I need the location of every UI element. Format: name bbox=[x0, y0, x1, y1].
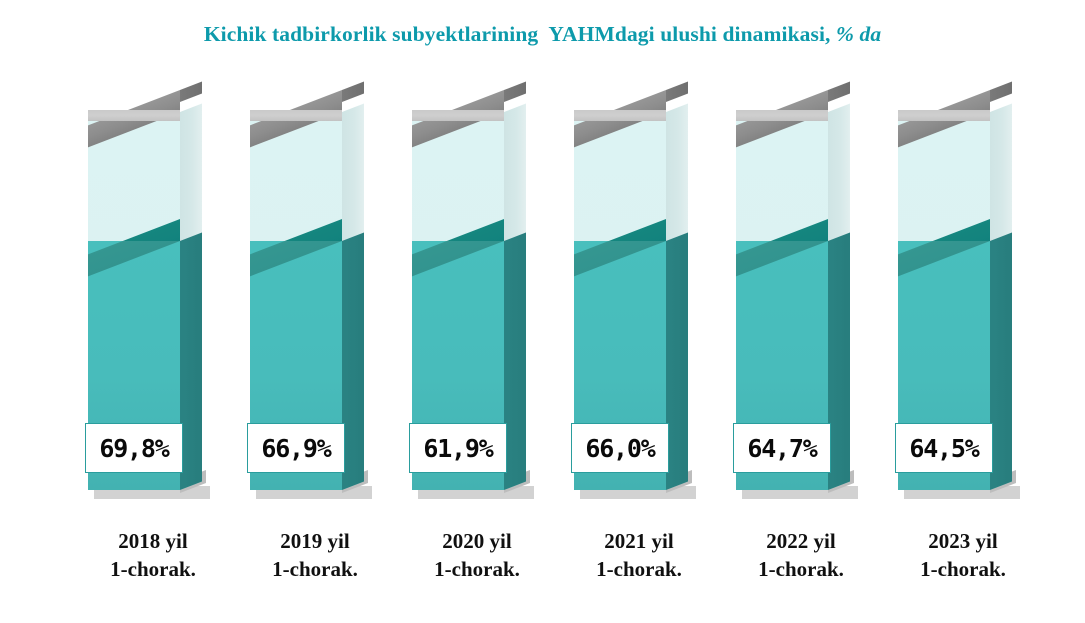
bar-category-label: 2020 yil 1-chorak. bbox=[398, 528, 556, 583]
bar-category-year: 2020 yil bbox=[442, 529, 511, 553]
bar-category-label: 2018 yil 1-chorak. bbox=[74, 528, 232, 583]
bar-lid-front-face bbox=[898, 110, 990, 121]
bar-value-label: 66,0% bbox=[585, 436, 654, 461]
bar-value-box: 66,9% bbox=[247, 423, 345, 473]
bar-value-label: 66,9% bbox=[261, 436, 330, 461]
bar-value-box: 61,9% bbox=[409, 423, 507, 473]
bar-category-quarter: 1-chorak. bbox=[560, 556, 718, 584]
bar-value-label: 69,8% bbox=[99, 436, 168, 461]
bar-category-label: 2023 yil 1-chorak. bbox=[884, 528, 1042, 583]
bar-category-quarter: 1-chorak. bbox=[398, 556, 556, 584]
bar-category-label: 2022 yil 1-chorak. bbox=[722, 528, 880, 583]
bar-category-quarter: 1-chorak. bbox=[236, 556, 394, 584]
bar-group-2020[interactable]: 61,9% 2020 yil 1-chorak. bbox=[412, 88, 542, 508]
bar-fill-side-face bbox=[504, 233, 526, 490]
bar-lid-side-face bbox=[180, 82, 202, 102]
bar-category-label: 2019 yil 1-chorak. bbox=[236, 528, 394, 583]
bar-lid-side-face bbox=[990, 82, 1012, 102]
bar-value-box: 64,5% bbox=[895, 423, 993, 473]
bar-category-year: 2018 yil bbox=[118, 529, 187, 553]
bar-category-year: 2021 yil bbox=[604, 529, 673, 553]
bar-lid-front-face bbox=[574, 110, 666, 121]
bar-fill-side-face bbox=[342, 233, 364, 490]
bar-category-year: 2022 yil bbox=[766, 529, 835, 553]
bar-value-label: 64,5% bbox=[909, 436, 978, 461]
bar-fill-side-face bbox=[666, 233, 688, 490]
bar-fill-side-face bbox=[180, 233, 202, 490]
bar-lid-side-face bbox=[828, 82, 850, 102]
bar-value-label: 61,9% bbox=[423, 436, 492, 461]
bar-category-label: 2021 yil 1-chorak. bbox=[560, 528, 718, 583]
bar-lid-front-face bbox=[736, 110, 828, 121]
bar-group-2018[interactable]: 69,8% 2018 yil 1-chorak. bbox=[88, 88, 218, 508]
bar-fill-side-face bbox=[990, 233, 1012, 490]
bar-lid-front-face bbox=[412, 110, 504, 121]
bar-lid-side-face bbox=[666, 82, 688, 102]
bar-category-year: 2023 yil bbox=[928, 529, 997, 553]
bar-group-2019[interactable]: 66,9% 2019 yil 1-chorak. bbox=[250, 88, 380, 508]
bar-category-quarter: 1-chorak. bbox=[884, 556, 1042, 584]
bar-group-2022[interactable]: 64,7% 2022 yil 1-chorak. bbox=[736, 88, 866, 508]
bar-category-quarter: 1-chorak. bbox=[722, 556, 880, 584]
chart-root: Kichik tadbirkorlik subyektlarining YAHM… bbox=[0, 0, 1085, 623]
bar-fill-side-face bbox=[828, 233, 850, 490]
bar-lid-side-face bbox=[504, 82, 526, 102]
plot-area: 69,8% 2018 yil 1-chorak. 66,9% bbox=[0, 0, 1085, 623]
bar-value-box: 69,8% bbox=[85, 423, 183, 473]
bar-category-year: 2019 yil bbox=[280, 529, 349, 553]
bar-group-2023[interactable]: 64,5% 2023 yil 1-chorak. bbox=[898, 88, 1028, 508]
bar-lid-side-face bbox=[342, 82, 364, 102]
bar-lid-front-face bbox=[88, 110, 180, 121]
bar-lid-front-face bbox=[250, 110, 342, 121]
bar-value-box: 64,7% bbox=[733, 423, 831, 473]
bar-value-box: 66,0% bbox=[571, 423, 669, 473]
bar-group-2021[interactable]: 66,0% 2021 yil 1-chorak. bbox=[574, 88, 704, 508]
bar-category-quarter: 1-chorak. bbox=[74, 556, 232, 584]
bar-value-label: 64,7% bbox=[747, 436, 816, 461]
